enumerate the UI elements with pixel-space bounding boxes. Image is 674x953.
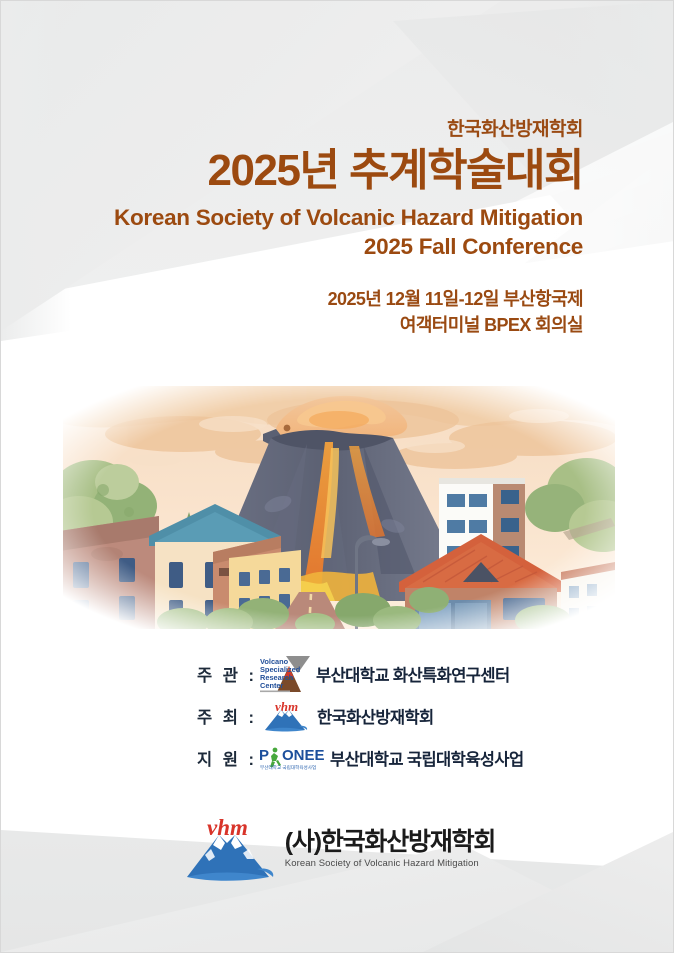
society-name-kr: (사)한국화산방재학회 <box>285 829 495 857</box>
svg-text:부산대학교 국립대학육성사업: 부산대학교 국립대학육성사업 <box>260 764 316 771</box>
vhm-mountain-logo-icon: vhm <box>181 813 277 885</box>
svg-text:Center: Center <box>260 681 284 690</box>
page-title: 2025년 추계학술대회 <box>23 145 583 197</box>
sponsor-row-organizer: 주 최 : vhm 한국화산방재학회 <box>1 695 674 737</box>
organization-name: 한국화산방재학회 <box>23 119 583 141</box>
english-title-line-2: 2025 Fall Conference <box>23 233 583 262</box>
sponsor-row-support: 지 원 : P ONEER 부산대학교 국립대학육성사업 부산대학교 국립대학육… <box>1 737 674 779</box>
svg-text:ONEER: ONEER <box>282 747 325 764</box>
venue-block: 2025년 12월 11일-12일 부산항국제 여객터미널 BPEX 회의실 <box>23 287 583 338</box>
poster-header: 한국화산방재학회 2025년 추계학술대회 Korean Society of … <box>23 119 583 338</box>
sponsor-name-host: 부산대학교 화산특화연구센터 <box>316 662 510 686</box>
venue-line-1: 2025년 12월 11일-12일 부산항국제 <box>23 287 583 313</box>
sponsor-label-support: 지 원 : <box>197 746 259 770</box>
society-logo: vhm (사)한국화산방재학회 Korean Society of Volcan… <box>1 813 674 885</box>
sponsor-name-support: 부산대학교 국립대학육성사업 <box>330 746 524 770</box>
conference-poster: 한국화산방재학회 2025년 추계학술대회 Korean Society of … <box>0 0 674 953</box>
volcano-specialized-research-center-logo-icon: Volcano Specialized Research Center <box>259 654 311 694</box>
volcano-illustration <box>63 386 615 629</box>
english-title-line-1: Korean Society of Volcanic Hazard Mitiga… <box>23 204 583 233</box>
vhm-society-logo-icon: vhm <box>261 699 309 733</box>
society-logo-text: (사)한국화산방재학회 Korean Society of Volcanic H… <box>285 829 495 870</box>
pioneer-program-logo-icon: P ONEER 부산대학교 국립대학육성사업 <box>259 745 325 771</box>
sponsor-label-host: 주 관 : <box>197 662 259 686</box>
sponsor-label-organizer: 주 최 : <box>197 704 259 728</box>
svg-text:P: P <box>259 747 269 764</box>
sponsor-name-organizer: 한국화산방재학회 <box>317 704 434 728</box>
sponsor-row-host: 주 관 : Volcano Specialized Research Cente… <box>1 653 674 695</box>
society-name-en: Korean Society of Volcanic Hazard Mitiga… <box>285 858 495 869</box>
svg-text:vhm: vhm <box>275 699 298 714</box>
venue-line-2: 여객터미널 BPEX 회의실 <box>23 313 583 339</box>
svg-text:vhm: vhm <box>207 815 248 840</box>
sponsors-section: 주 관 : Volcano Specialized Research Cente… <box>1 653 674 779</box>
